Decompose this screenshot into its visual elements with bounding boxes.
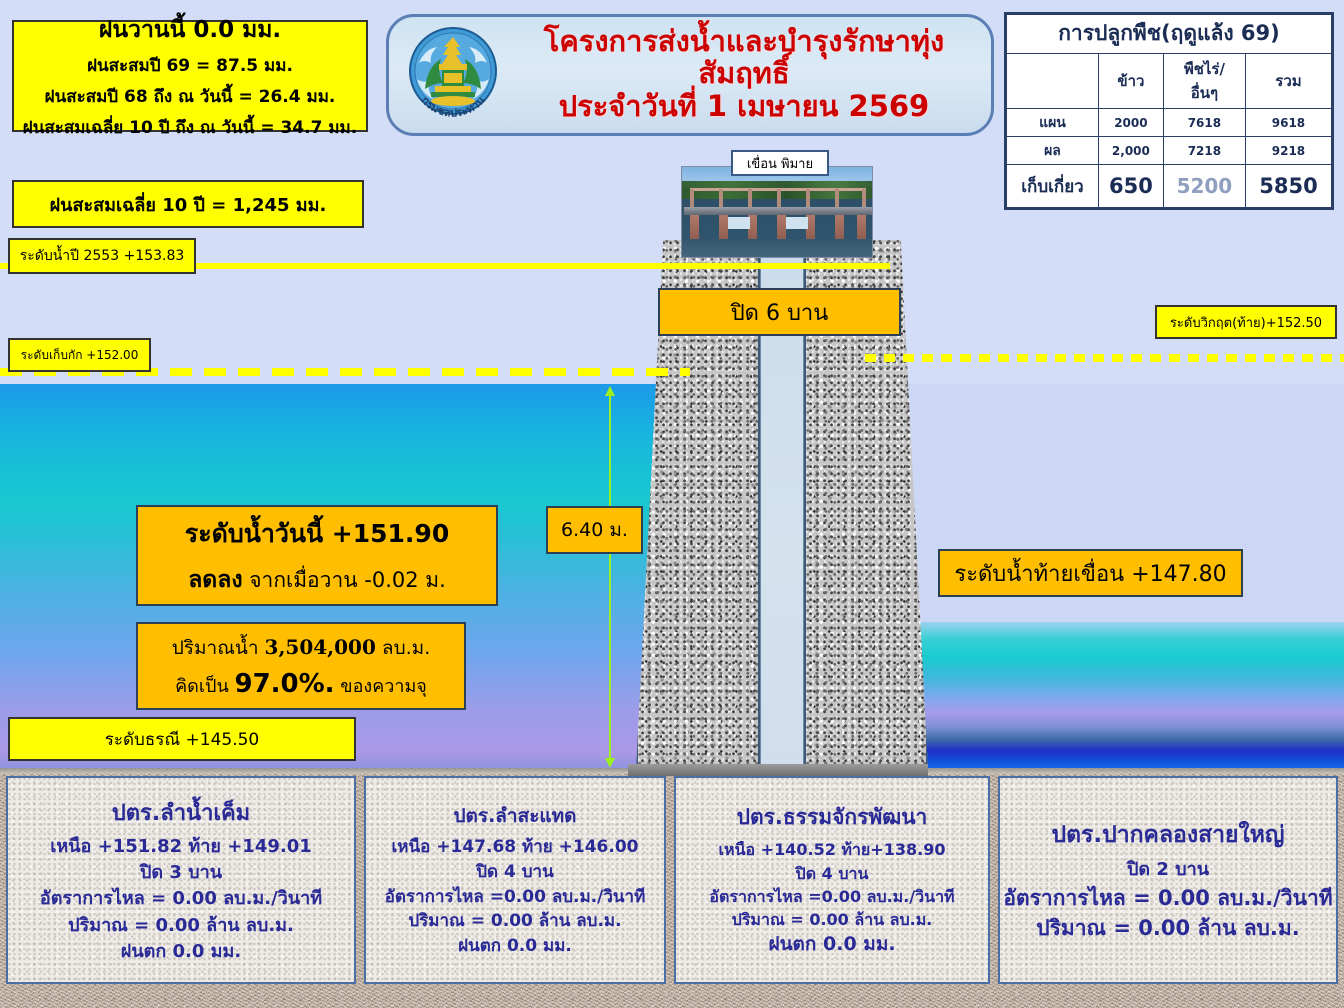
rain-accum-68: ฝนสะสมปี 68 ถึง ณ วันนี้ = 26.4 มม. bbox=[45, 83, 336, 110]
photo-rail-posts bbox=[690, 189, 866, 208]
dam-name-label: เขื่อน พิมาย bbox=[731, 150, 829, 176]
rainfall-avg10-box: ฝนสะสมเฉลี่ย 10 ปี = 1,245 มม. bbox=[12, 180, 364, 228]
station-flow: อัตราการไหล = 0.00 ลบ.ม./วินาที bbox=[40, 886, 322, 912]
today-water-trend: ลดลง จากเมื่อวาน -0.02 ม. bbox=[188, 562, 446, 598]
photo-water bbox=[682, 239, 872, 257]
station-rain: ฝนตก 0.0 มม. bbox=[458, 934, 572, 959]
crop-row-label-harvest: เก็บเกี่ยว bbox=[1007, 165, 1099, 208]
level-label-2553: ระดับน้ำปี 2553 +153.83 bbox=[8, 238, 196, 274]
crop-plan-other: 7618 bbox=[1163, 109, 1245, 137]
table-row: เก็บเกี่ยว 650 5200 5850 bbox=[1007, 165, 1332, 208]
level-label-ground: ระดับธรณี +145.50 bbox=[8, 717, 356, 761]
level-line-critical-tail bbox=[865, 354, 1344, 362]
crop-col-total: รวม bbox=[1245, 53, 1331, 109]
station-name: ปตร.ลำสะแทด bbox=[453, 801, 576, 831]
station-levels: เหนือ +147.68 ท้าย +146.00 bbox=[391, 835, 638, 860]
station-gates: ปิด 3 บาน bbox=[140, 860, 222, 886]
crop-plan-total: 9618 bbox=[1245, 109, 1331, 137]
tail-water-level-box: ระดับน้ำท้ายเขื่อน +147.80 bbox=[938, 549, 1243, 597]
depth-measurement-arrow bbox=[604, 386, 616, 768]
water-volume-box: ปริมาณน้ำ 3,504,000 ลบ.ม. คิดเป็น 97.0%.… bbox=[136, 622, 466, 710]
table-row: ผล 2,000 7218 9218 bbox=[1007, 137, 1332, 165]
today-water-level-box: ระดับน้ำวันนี้ +151.90 ลดลง จากเมื่อวาน … bbox=[136, 505, 498, 606]
crop-actual-rice: 2,000 bbox=[1098, 137, 1163, 165]
crop-harvest-other: 5200 bbox=[1163, 165, 1245, 208]
crop-actual-other: 7218 bbox=[1163, 137, 1245, 165]
rain-accum-avg10-to-date: ฝนสะสมเฉลี่ย 10 ปี ถึง ณ วันนี้ = 34.7 ม… bbox=[23, 114, 357, 141]
station-cards-row: ปตร.ลำน้ำเค็ม เหนือ +151.82 ท้าย +149.01… bbox=[0, 770, 1344, 1008]
station-name: ปตร.ปากคลองสายใหญ่ bbox=[1051, 817, 1284, 853]
dashboard-canvas: เขื่อน พิมาย bbox=[0, 0, 1344, 1008]
station-gates: ปิด 4 บาน bbox=[796, 862, 869, 885]
station-volume: ปริมาณ = 0.00 ล้าน ลบ.ม. bbox=[732, 908, 933, 931]
rainfall-summary-box: ฝนวานนี้ 0.0 มม. ฝนสะสมปี 69 = 87.5 มม. … bbox=[12, 20, 368, 132]
crop-col-other: พืชไร่/ อื่นๆ bbox=[1163, 53, 1245, 109]
station-gates: ปิด 4 บาน bbox=[476, 860, 553, 885]
dam-name-text: เขื่อน พิมาย bbox=[747, 153, 813, 174]
station-volume: ปริมาณ = 0.00 ล้าน ลบ.ม. bbox=[1036, 913, 1299, 943]
crop-row-label-actual: ผล bbox=[1007, 137, 1099, 165]
water-volume-line: ปริมาณน้ำ 3,504,000 ลบ.ม. bbox=[172, 633, 431, 663]
station-gates: ปิด 2 บาน bbox=[1127, 857, 1209, 883]
volume-suffix: ลบ.ม. bbox=[376, 637, 430, 659]
station-rain: ฝนตก 0.0 มม. bbox=[121, 939, 241, 965]
royal-irrigation-department-seal-icon: กรมชลประทาน bbox=[399, 23, 507, 127]
rain-accum-avg10-total: ฝนสะสมเฉลี่ย 10 ปี = 1,245 มม. bbox=[50, 190, 327, 219]
station-rain: ฝนตก 0.0 มม. bbox=[768, 931, 895, 959]
crop-row-label-plan: แผน bbox=[1007, 109, 1099, 137]
pct-suffix: ของความจุ bbox=[335, 676, 427, 697]
station-name: ปตร.ธรรมจักรพัฒนา bbox=[737, 801, 928, 834]
arrow-head-down-icon bbox=[605, 758, 615, 768]
project-title: โครงการส่งน้ำและบำรุงรักษาทุ่งสัมฤทธิ์ bbox=[507, 26, 981, 90]
rain-accum-69: ฝนสะสมปี 69 = 87.5 มม. bbox=[87, 52, 293, 79]
water-capacity-line: คิดเป็น 97.0%. ของความจุ bbox=[175, 669, 427, 700]
crop-harvest-rice: 650 bbox=[1098, 165, 1163, 208]
station-levels: เหนือ +140.52 ท้าย+138.90 bbox=[719, 838, 946, 861]
station-levels: เหนือ +151.82 ท้าย +149.01 bbox=[50, 834, 312, 860]
station-flow: อัตราการไหล =0.00 ลบ.ม./วินาที bbox=[385, 885, 646, 910]
volume-value: 3,504,000 bbox=[265, 635, 376, 659]
trend-label: ลดลง bbox=[188, 567, 242, 593]
report-date: ประจำวันที่ 1 เมษายน 2569 bbox=[507, 90, 981, 123]
station-flow: อัตราการไหล = 0.00 ลบ.ม./วินาที bbox=[1003, 883, 1332, 913]
crop-harvest-total: 5850 bbox=[1245, 165, 1331, 208]
depth-value-box: 6.40 ม. bbox=[546, 506, 643, 554]
crop-actual-total: 9218 bbox=[1245, 137, 1331, 165]
header-banner: กรมชลประทาน โครงการส่งน้ำและบำรุงรักษาทุ… bbox=[386, 14, 994, 136]
pct-prefix: คิดเป็น bbox=[175, 676, 234, 697]
crop-col-other-line1: พืชไร่/ bbox=[1164, 57, 1245, 81]
level-label-storage: ระดับเก็บกัก +152.00 bbox=[8, 338, 151, 372]
level-2553-text: ระดับน้ำปี 2553 +153.83 bbox=[20, 245, 185, 267]
station-volume: ปริมาณ = 0.00 ล้าน ลบ.ม. bbox=[408, 909, 621, 934]
depth-value-text: 6.40 ม. bbox=[561, 515, 628, 545]
crop-table-title: การปลูกพืช(ฤดูแล้ง 69) bbox=[1007, 15, 1332, 54]
capacity-percent: 97.0%. bbox=[234, 669, 334, 699]
station-card-lamsathaet[interactable]: ปตร.ลำสะแทด เหนือ +147.68 ท้าย +146.00 ป… bbox=[364, 776, 666, 984]
trend-detail: จากเมื่อวาน -0.02 ม. bbox=[243, 568, 446, 592]
today-water-level-text: ระดับน้ำวันนี้ +151.90 bbox=[185, 514, 449, 554]
level-storage-text: ระดับเก็บกัก +152.00 bbox=[21, 346, 139, 365]
tail-water-level-text: ระดับน้ำท้ายเขื่อน +147.80 bbox=[954, 556, 1226, 591]
header-title-block: โครงการส่งน้ำและบำรุงรักษาทุ่งสัมฤทธิ์ ป… bbox=[507, 26, 991, 123]
rain-yesterday: ฝนวานนี้ 0.0 มม. bbox=[99, 12, 281, 48]
crop-col-rice: ข้าว bbox=[1098, 53, 1163, 109]
dam-gate-status-text: ปิด 6 บาน bbox=[731, 295, 829, 330]
photo-bridge-deck bbox=[684, 207, 872, 215]
station-flow: อัตราการไหล =0.00 ลบ.ม./วินาที bbox=[709, 885, 954, 908]
level-critical-tail-text: ระดับวิกฤต(ท้าย)+152.50 bbox=[1170, 312, 1322, 333]
dam-gate-status-box: ปิด 6 บาน bbox=[658, 288, 901, 336]
level-label-critical-tail: ระดับวิกฤต(ท้าย)+152.50 bbox=[1155, 305, 1337, 339]
level-ground-text: ระดับธรณี +145.50 bbox=[105, 726, 260, 753]
station-card-pakkhlongsaiyai[interactable]: ปตร.ปากคลองสายใหญ่ ปิด 2 บาน อัตราการไหล… bbox=[998, 776, 1338, 984]
station-volume: ปริมาณ = 0.00 ล้าน ลบ.ม. bbox=[68, 913, 294, 939]
dam-photo bbox=[681, 166, 873, 258]
crop-planting-table: การปลูกพืช(ฤดูแล้ง 69) ข้าว พืชไร่/ อื่น… bbox=[1004, 12, 1334, 210]
station-card-lamnamkhem[interactable]: ปตร.ลำน้ำเค็ม เหนือ +151.82 ท้าย +149.01… bbox=[6, 776, 356, 984]
crop-col-other-line2: อื่นๆ bbox=[1164, 81, 1245, 105]
station-card-thammachakphatthana[interactable]: ปตร.ธรรมจักรพัฒนา เหนือ +140.52 ท้าย+138… bbox=[674, 776, 990, 984]
table-row: แผน 2000 7618 9618 bbox=[1007, 109, 1332, 137]
arrow-shaft bbox=[609, 392, 611, 762]
crop-table-corner-cell bbox=[1007, 53, 1099, 109]
crop-plan-rice: 2000 bbox=[1098, 109, 1163, 137]
volume-prefix: ปริมาณน้ำ bbox=[172, 637, 265, 659]
station-name: ปตร.ลำน้ำเค็ม bbox=[112, 795, 250, 830]
